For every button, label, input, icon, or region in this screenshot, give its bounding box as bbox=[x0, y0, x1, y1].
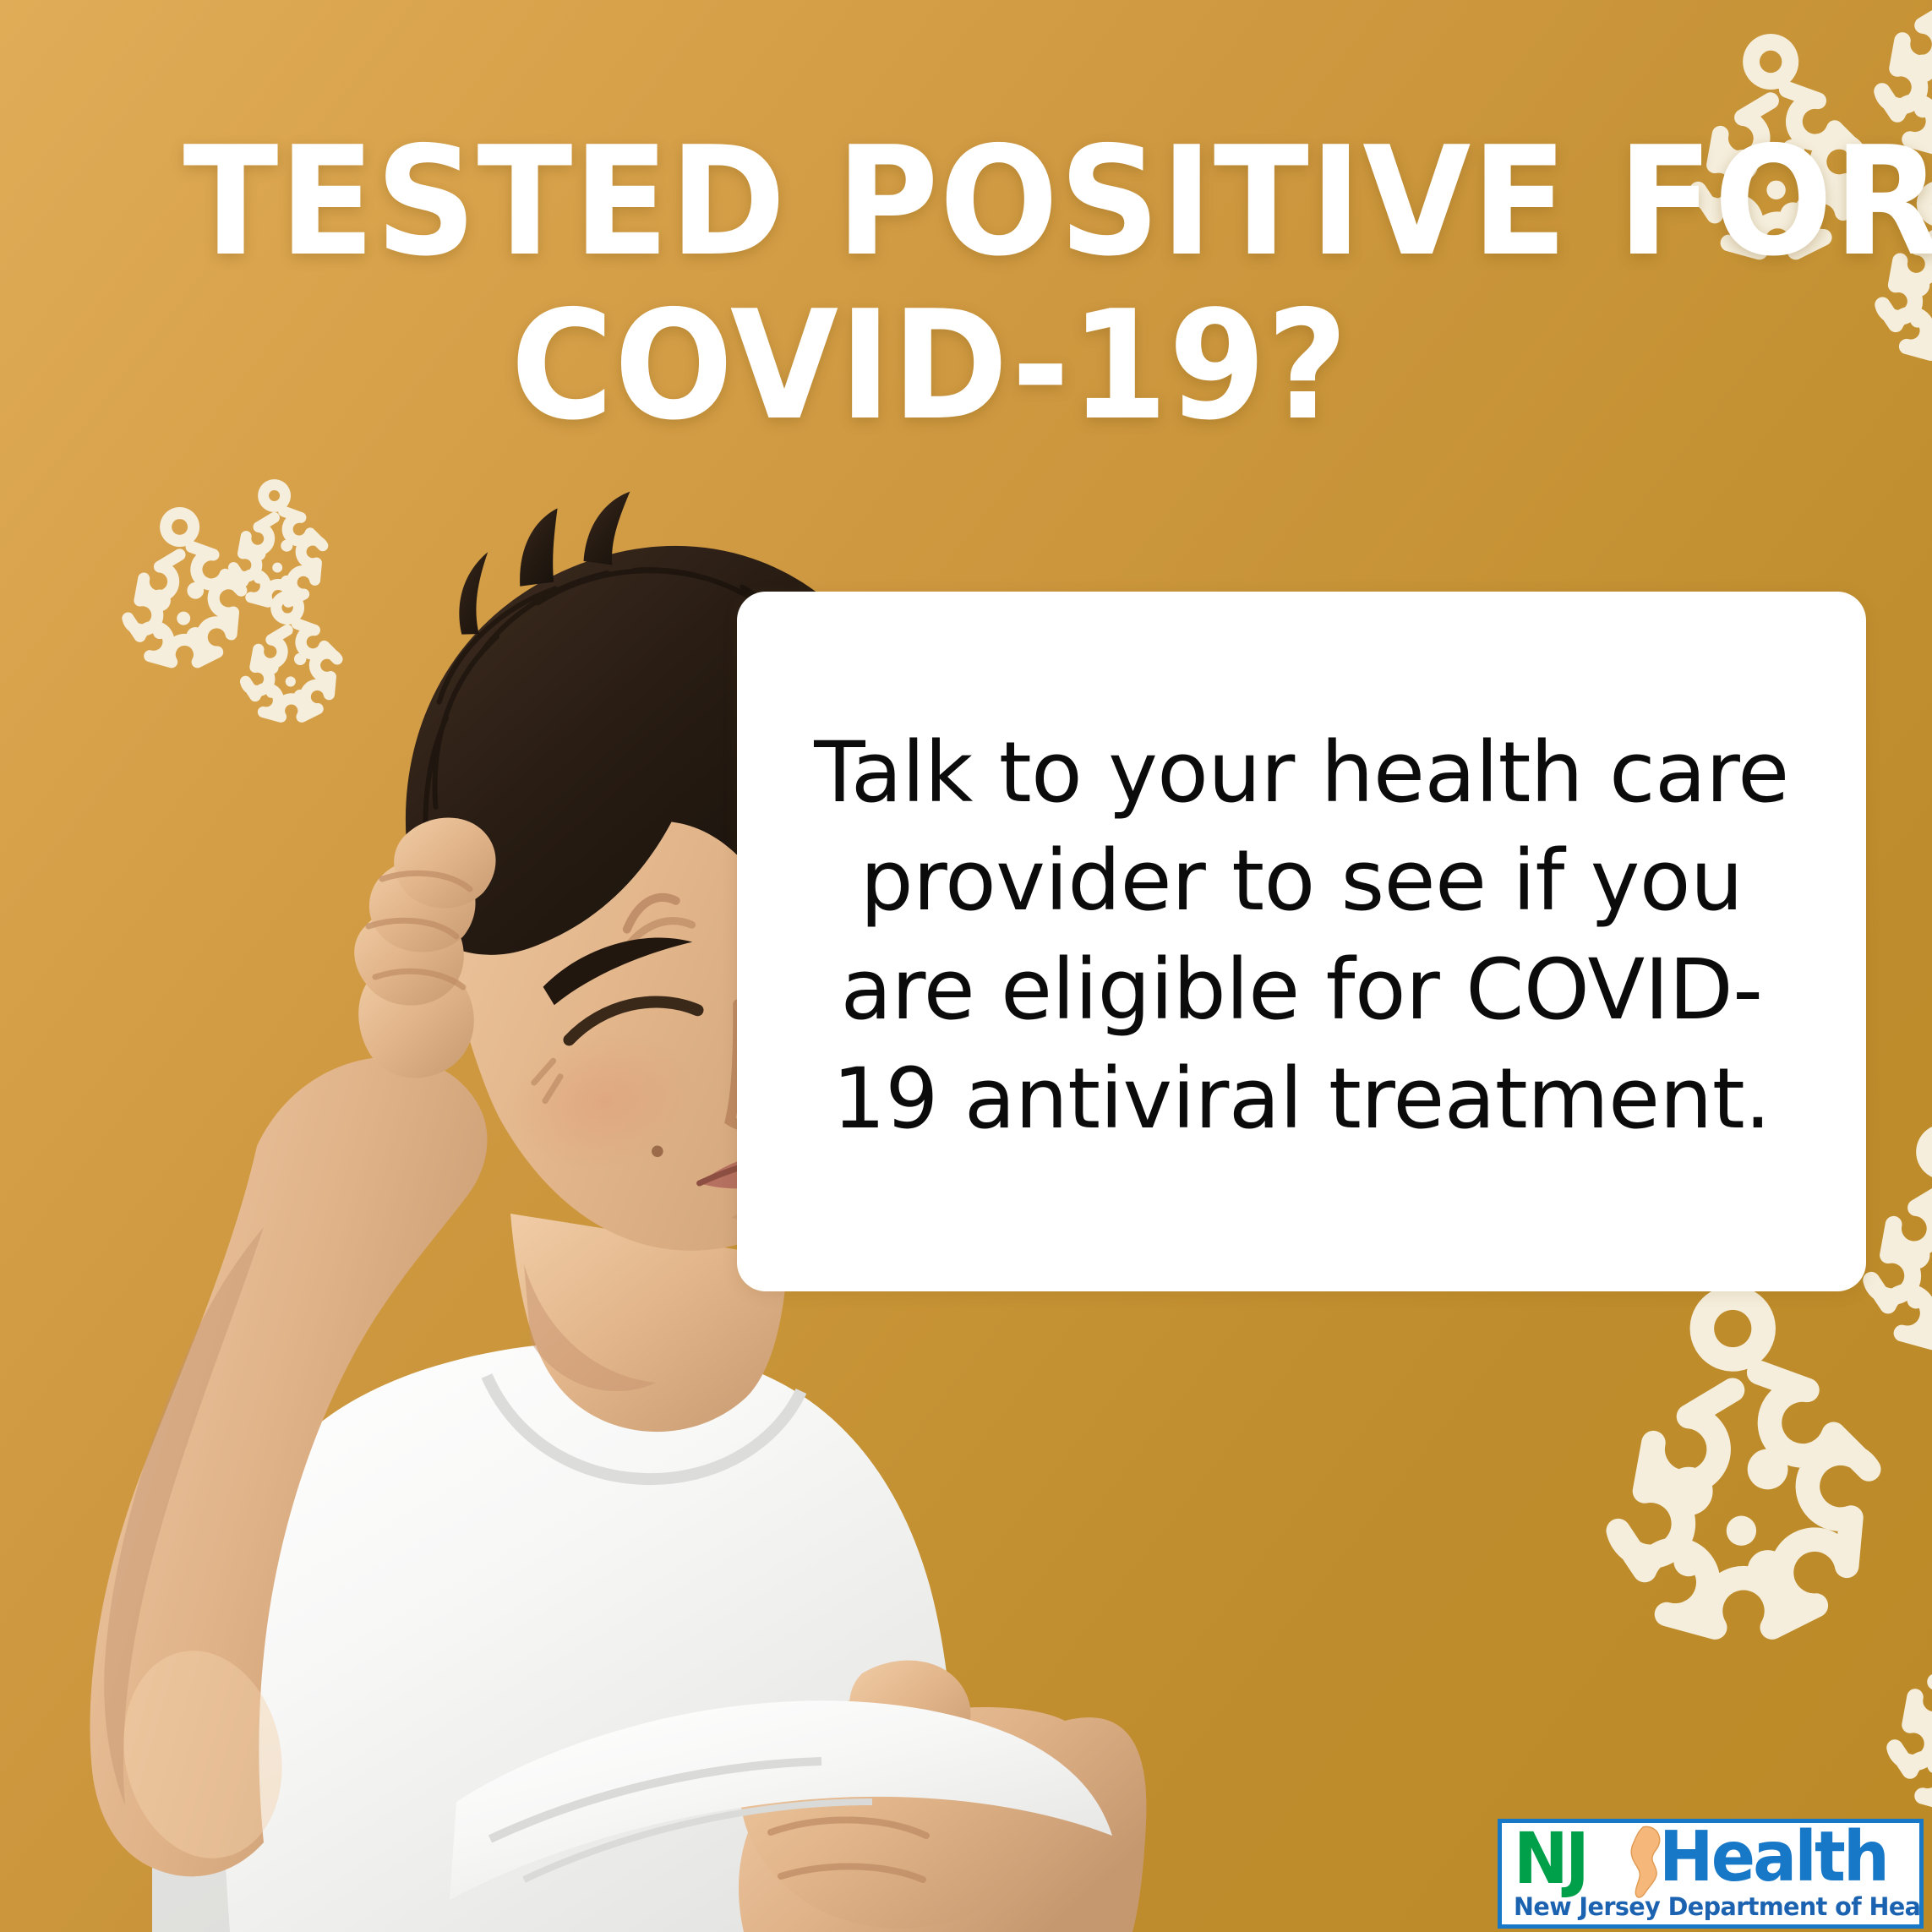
page-title: TESTED POSITIVE FOR COVID-19? bbox=[183, 127, 1677, 441]
virus-icon bbox=[80, 507, 279, 706]
headline-line-2: COVID-19? bbox=[183, 291, 1677, 441]
message-text: Talk to your health care provider to see… bbox=[796, 719, 1807, 1154]
logo-health-text: Health bbox=[1659, 1826, 1887, 1889]
virus-icon bbox=[196, 480, 352, 636]
virus-icon bbox=[1513, 1285, 1932, 1724]
logo-nj-text: NJ bbox=[1514, 1828, 1586, 1891]
message-card: Talk to your health care provider to see… bbox=[737, 592, 1866, 1291]
logo-wordmark: NJ Health bbox=[1514, 1828, 1911, 1891]
logo-subtitle: New Jersey Department of Health bbox=[1514, 1892, 1899, 1921]
poster-canvas: TESTED POSITIVE FOR COVID-19? Talk to yo… bbox=[0, 0, 1932, 1932]
headline-line-1: TESTED POSITIVE FOR bbox=[183, 127, 1677, 277]
nj-health-logo: NJ Health New Jersey Department of Healt… bbox=[1498, 1819, 1924, 1929]
virus-icon bbox=[207, 592, 368, 752]
